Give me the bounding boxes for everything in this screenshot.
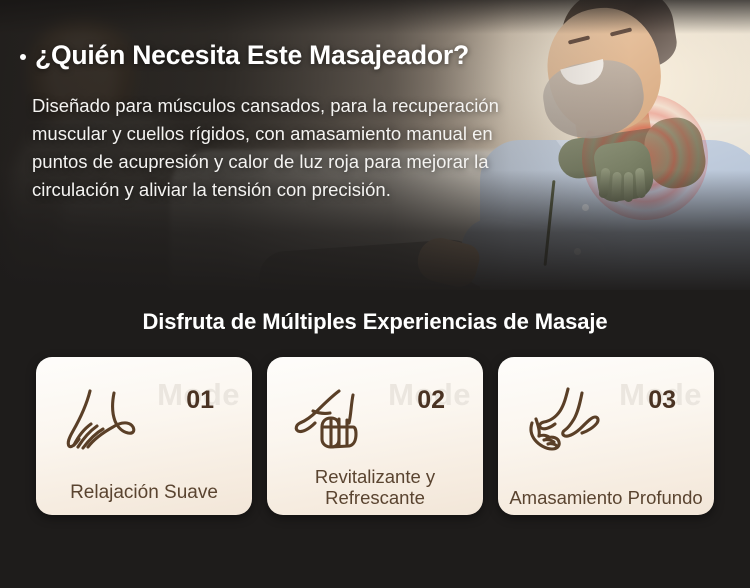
dot-marker-icon bbox=[20, 54, 26, 60]
hero-description: Diseñado para músculos cansados, para la… bbox=[32, 92, 544, 204]
mode-number: 03 bbox=[648, 388, 676, 413]
mode-number: 01 bbox=[186, 388, 214, 413]
massage-modes-section: Disfruta de Múltiples Experiencias de Ma… bbox=[0, 290, 750, 588]
page-title: ¿Quién Necesita Este Masajeador? bbox=[35, 40, 469, 71]
headline-row: ¿Quién Necesita Este Masajeador? bbox=[20, 40, 600, 71]
promo-page: ¿Quién Necesita Este Masajeador? Diseñad… bbox=[0, 0, 750, 588]
hero-copy-block: ¿Quién Necesita Este Masajeador? Diseñad… bbox=[0, 0, 600, 204]
mode-card-01[interactable]: Mode 01 Relajación Suave bbox=[36, 357, 252, 515]
two-hands-kneading-icon bbox=[522, 383, 618, 455]
mode-card-02[interactable]: Mode 02 Revitalizante y Refrescante bbox=[267, 357, 483, 515]
mode-label: Amasamiento Profundo bbox=[498, 487, 714, 508]
closed-fist-hand-icon bbox=[291, 383, 387, 455]
mode-cards-list: Mode 01 Relajación Suave Mode 02 bbox=[0, 335, 750, 515]
section-title: Disfruta de Múltiples Experiencias de Ma… bbox=[0, 290, 750, 335]
mode-label: Revitalizante y Refrescante bbox=[267, 466, 483, 508]
open-hand-fingers-icon bbox=[60, 383, 156, 455]
mode-number: 02 bbox=[417, 388, 445, 413]
mode-card-03[interactable]: Mode 03 Amasamiento Profundo bbox=[498, 357, 714, 515]
mode-label: Relajación Suave bbox=[36, 482, 252, 504]
